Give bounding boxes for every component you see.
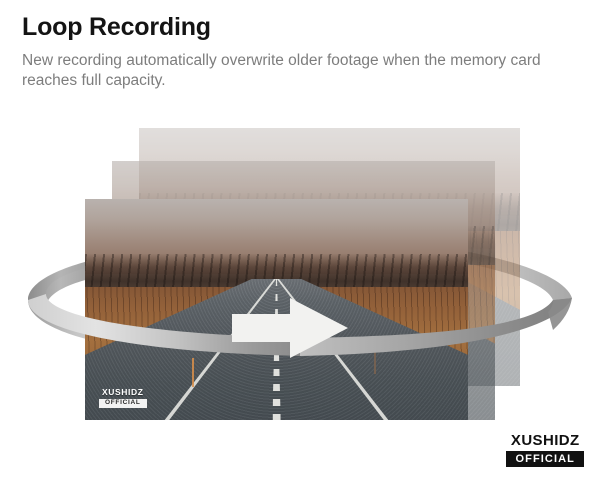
brand-sub-label: OFFICIAL [506, 451, 584, 467]
brand-name: XUSHIDZ [506, 433, 584, 448]
brand-logo: XUSHIDZ OFFICIAL [506, 433, 584, 467]
roadside-post [374, 349, 376, 373]
watermark-brand-name: XUSHIDZ [99, 388, 147, 397]
photo-stack: XUSHIDZ OFFICIAL [0, 0, 600, 479]
roadside-post [192, 358, 194, 387]
watermark-brand-sub: OFFICIAL [99, 399, 147, 409]
slide-canvas: Loop Recording New recording automatical… [0, 0, 600, 479]
arrow-right-icon [232, 298, 348, 358]
loop-direction-arrow-icon [232, 296, 352, 360]
photo-watermark: XUSHIDZ OFFICIAL [99, 388, 147, 408]
